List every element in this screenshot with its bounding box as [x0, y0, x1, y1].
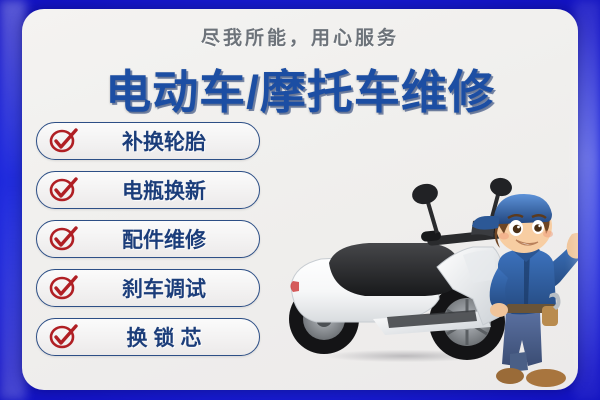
- service-label: 电瓶换新: [79, 175, 259, 205]
- poster-subtitle: 尽我所能，用心服务: [22, 23, 578, 50]
- mechanic-cap: [494, 194, 552, 224]
- service-label: 补换轮胎: [79, 126, 259, 156]
- service-pill[interactable]: 换锁芯: [36, 318, 260, 356]
- check-circle-icon: [49, 275, 79, 301]
- service-pill[interactable]: 补换轮胎: [36, 122, 260, 160]
- check-circle-icon: [49, 177, 79, 203]
- mechanic-illustration: [454, 194, 578, 390]
- service-label: 换锁芯: [79, 322, 259, 352]
- service-label: 刹车调试: [79, 273, 259, 303]
- check-circle-icon: [49, 128, 79, 154]
- service-list: 补换轮胎 电瓶换新 配件维修: [36, 122, 296, 367]
- poster-card: 尽我所能，用心服务 电动车/摩托车维修: [22, 9, 578, 390]
- service-pill[interactable]: 电瓶换新: [36, 171, 260, 209]
- boot-right: [526, 369, 566, 387]
- check-circle-icon: [49, 324, 79, 350]
- service-pill[interactable]: 刹车调试: [36, 269, 260, 307]
- service-pill[interactable]: 配件维修: [36, 220, 260, 258]
- poster-root: 尽我所能，用心服务 电动车/摩托车维修: [0, 0, 600, 400]
- service-label: 配件维修: [79, 224, 259, 254]
- cap-brim: [472, 216, 499, 230]
- boot-left: [496, 368, 524, 384]
- check-circle-icon: [49, 226, 79, 252]
- poster-headline: 电动车/摩托车维修: [22, 56, 578, 122]
